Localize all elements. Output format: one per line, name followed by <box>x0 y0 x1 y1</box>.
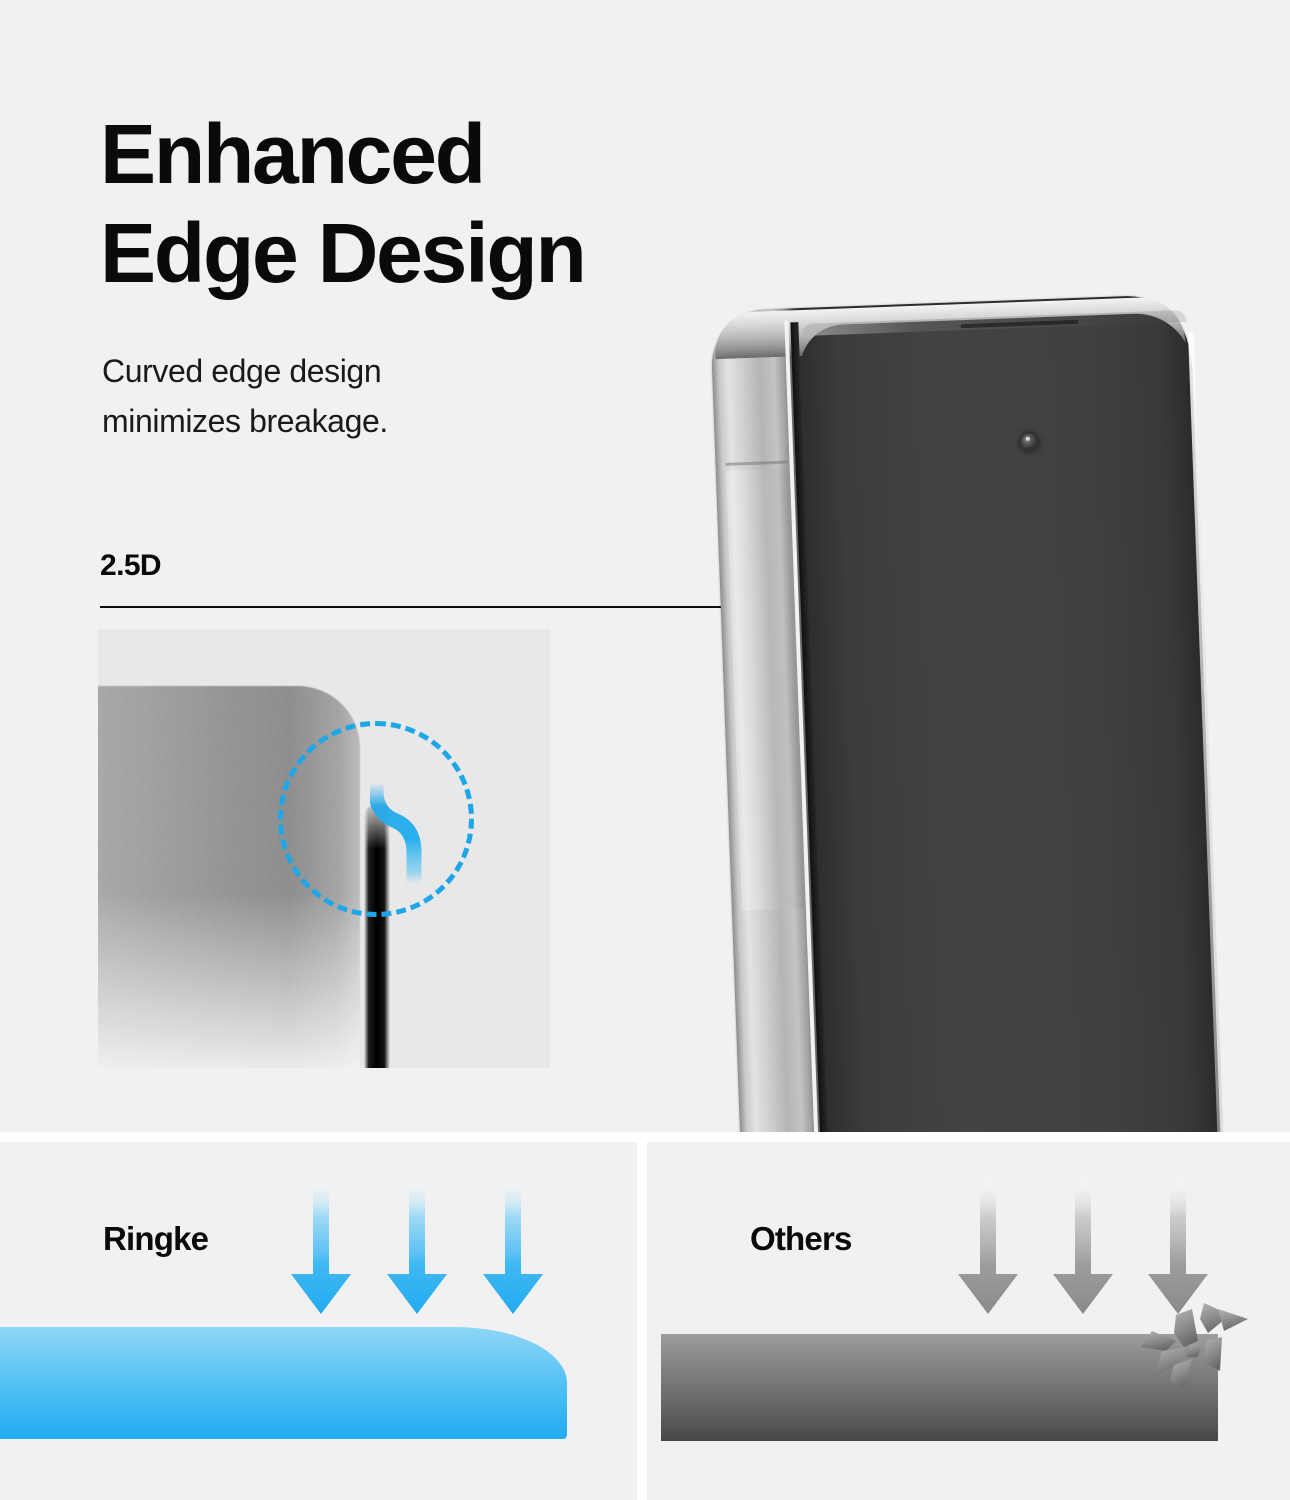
page-title: Enhanced Edge Design <box>100 105 820 303</box>
impact-arrow-blue <box>384 1176 450 1316</box>
comparison-label-others: Others <box>750 1220 852 1258</box>
magnifier-circle-annotation <box>278 721 474 917</box>
phone-mockup <box>700 280 1290 1132</box>
phone-screen <box>799 312 1222 1132</box>
impact-arrow-blue <box>480 1176 546 1316</box>
comparison-label-ringke: Ringke <box>103 1220 208 1258</box>
impact-arrow-gray <box>1050 1176 1116 1316</box>
page-subtitle: Curved edge design minimizes breakage. <box>102 347 642 446</box>
shatter-burst-icon <box>1140 1285 1280 1415</box>
product-feature-graphic: Enhanced Edge Design Curved edge design … <box>0 0 1290 1500</box>
phone-edge-highlight <box>1188 332 1225 1132</box>
others-glass-slab-square-edge <box>661 1334 1218 1441</box>
hero-panel: Enhanced Edge Design Curved edge design … <box>0 0 1290 1132</box>
edge-detail-magnifier <box>98 629 550 1068</box>
impact-arrow-gray <box>955 1176 1021 1316</box>
callout-label-2-5d: 2.5D <box>100 549 161 583</box>
ringke-glass-slab-curved-edge <box>0 1327 567 1439</box>
impact-arrow-blue <box>288 1176 354 1316</box>
